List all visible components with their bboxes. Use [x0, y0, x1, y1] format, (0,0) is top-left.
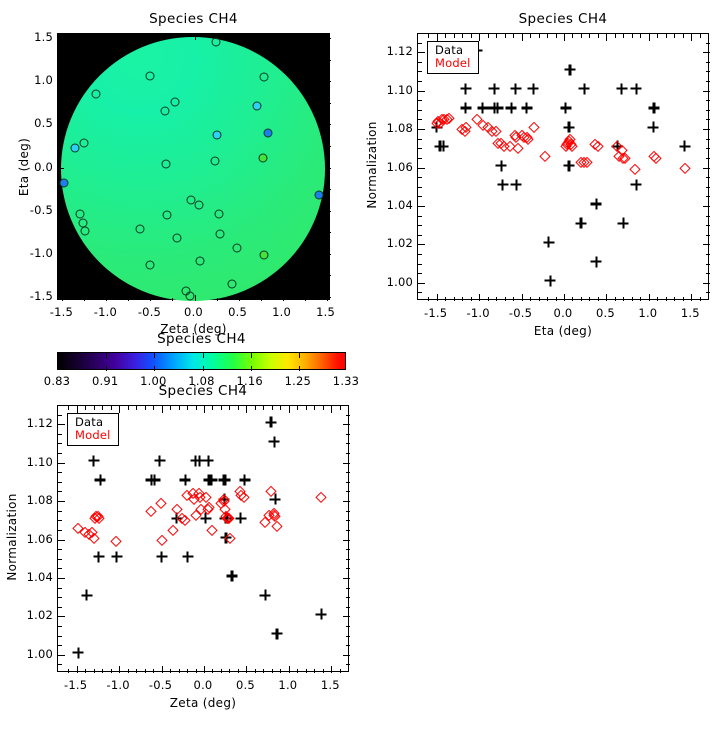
y-minor-tick — [706, 216, 710, 217]
y-tick — [418, 168, 425, 169]
model-point-marker — [155, 498, 166, 509]
x-minor-tick — [581, 34, 582, 38]
model-point-marker — [168, 525, 179, 536]
model-point-marker — [220, 503, 231, 514]
colorbar-ticklabel: 0.83 — [44, 374, 70, 388]
y-tick — [418, 283, 425, 284]
x-tick — [77, 666, 78, 673]
y-minor-tick — [706, 81, 710, 82]
model-point-marker — [650, 153, 661, 164]
eta_scatter-ylabel: Normalization — [365, 115, 379, 215]
y-minor-tick — [706, 158, 710, 159]
y-minor-tick — [418, 292, 422, 293]
eta_scatter-ytick: 1.12 — [379, 44, 413, 58]
model-point-marker — [195, 503, 206, 514]
x-tick — [119, 406, 120, 413]
data-point-marker — [511, 179, 522, 190]
data-point-marker — [497, 179, 508, 190]
y-tick — [343, 463, 350, 464]
x-minor-tick — [297, 669, 298, 673]
x-minor-tick — [68, 406, 69, 410]
model-point-marker — [439, 114, 450, 125]
x-minor-tick — [238, 669, 239, 673]
model-point-marker — [234, 486, 245, 497]
x-minor-tick — [598, 34, 599, 38]
model-point-marker — [270, 511, 281, 522]
colorbar-tick — [299, 353, 300, 358]
model-point-marker — [679, 162, 690, 173]
y-minor-tick — [418, 235, 422, 236]
model-point-marker — [487, 126, 498, 137]
model-point-marker — [194, 488, 205, 499]
y-minor-tick — [418, 273, 422, 274]
x-minor-tick — [85, 406, 86, 410]
y-tick — [703, 283, 710, 284]
x-minor-tick — [314, 669, 315, 673]
data-point-marker — [272, 628, 283, 639]
x-minor-tick — [102, 669, 103, 673]
model-point-marker — [260, 517, 271, 528]
x-minor-tick — [471, 34, 472, 38]
x-tick — [606, 294, 607, 301]
x-minor-tick — [221, 406, 222, 410]
eta_scatter-panel: Species CH4-1.5-1.0-0.50.00.51.01.51.001… — [360, 0, 720, 350]
x-minor-tick — [111, 669, 112, 673]
eta_scatter-ytick: 1.04 — [379, 198, 413, 212]
data-point-marker — [190, 455, 201, 466]
eta_scatter-ytick: 1.08 — [379, 121, 413, 135]
y-tick — [703, 206, 710, 207]
data-point-marker — [266, 417, 277, 428]
model-point-marker — [611, 141, 622, 152]
x-minor-tick — [674, 297, 675, 301]
x-tick — [289, 666, 290, 673]
x-tick — [522, 34, 523, 41]
zeta_scatter-xlabel: Zeta (deg) — [57, 696, 349, 710]
data-point-marker — [194, 455, 205, 466]
x-tick — [691, 294, 692, 301]
model-point-marker — [576, 156, 587, 167]
x-tick — [204, 406, 205, 413]
y-minor-tick — [58, 415, 62, 416]
data-point-marker — [564, 64, 575, 75]
model-point-marker — [83, 528, 94, 539]
data-point-marker — [489, 83, 500, 94]
model-point-marker — [263, 509, 274, 520]
figure-canvas: Species CH4-1.5-1.0-0.50.00.51.01.5-1.5-… — [0, 0, 720, 720]
x-minor-tick — [145, 406, 146, 410]
y-tick — [418, 206, 425, 207]
x-minor-tick — [539, 297, 540, 301]
x-minor-tick — [539, 34, 540, 38]
x-minor-tick — [683, 34, 684, 38]
y-minor-tick — [346, 645, 350, 646]
model-point-marker — [200, 492, 211, 503]
eta_scatter-ytick: 1.06 — [379, 160, 413, 174]
data-point-marker — [564, 160, 575, 171]
model-point-marker — [516, 130, 527, 141]
zeta_scatter-xtick: 1.0 — [278, 678, 297, 692]
zeta_scatter-legend: DataModel — [67, 413, 119, 446]
x-tick — [119, 666, 120, 673]
x-minor-tick — [598, 297, 599, 301]
x-minor-tick — [170, 669, 171, 673]
colorbar-tick — [203, 366, 204, 371]
eta_scatter-legend: DataModel — [427, 41, 479, 74]
data-point-marker — [612, 141, 623, 152]
model-point-marker — [618, 153, 629, 164]
y-minor-tick — [706, 292, 710, 293]
y-minor-tick — [418, 62, 422, 63]
y-minor-tick — [418, 110, 422, 111]
zeta_scatter-ytick: 1.04 — [19, 570, 53, 584]
y-minor-tick — [58, 607, 62, 608]
y-minor-tick — [58, 434, 62, 435]
data-point-marker — [435, 141, 446, 152]
y-minor-tick — [346, 559, 350, 560]
data-point-marker — [616, 83, 627, 94]
model-point-marker — [156, 534, 167, 545]
x-minor-tick — [314, 406, 315, 410]
data-point-marker — [111, 551, 122, 562]
y-minor-tick — [418, 119, 422, 120]
model-point-marker — [190, 509, 201, 520]
model-point-marker — [218, 494, 229, 505]
eta_scatter-xtick: -1.0 — [466, 306, 489, 320]
x-tick — [331, 406, 332, 413]
model-point-marker — [649, 151, 660, 162]
model-point-marker — [565, 139, 576, 150]
y-minor-tick — [706, 264, 710, 265]
x-minor-tick — [454, 34, 455, 38]
y-minor-tick — [706, 177, 710, 178]
y-minor-tick — [58, 530, 62, 531]
y-minor-tick — [346, 443, 350, 444]
colorbar-ticklabel: 1.33 — [333, 374, 359, 388]
x-minor-tick — [589, 297, 590, 301]
eta_scatter-ytick: 1.02 — [379, 236, 413, 250]
y-minor-tick — [346, 664, 350, 665]
x-minor-tick — [615, 297, 616, 301]
x-minor-tick — [666, 297, 667, 301]
data-point-marker — [95, 474, 106, 485]
data-point-marker — [218, 474, 229, 485]
x-minor-tick — [68, 669, 69, 673]
x-minor-tick — [196, 406, 197, 410]
x-minor-tick — [547, 34, 548, 38]
data-point-marker — [222, 513, 233, 524]
y-minor-tick — [346, 453, 350, 454]
y-minor-tick — [706, 71, 710, 72]
colorbar-tick — [251, 353, 252, 358]
x-minor-tick — [179, 406, 180, 410]
x-minor-tick — [272, 669, 273, 673]
x-minor-tick — [153, 669, 154, 673]
x-tick — [564, 34, 565, 41]
x-minor-tick — [666, 34, 667, 38]
model-point-marker — [189, 494, 200, 505]
x-minor-tick — [136, 669, 137, 673]
colorbar-tick — [299, 366, 300, 371]
data-point-marker — [460, 102, 471, 113]
x-minor-tick — [297, 406, 298, 410]
y-minor-tick — [418, 158, 422, 159]
x-minor-tick — [128, 669, 129, 673]
y-minor-tick — [58, 520, 62, 521]
model-point-marker — [436, 114, 447, 125]
colorbar-gradient — [57, 352, 346, 370]
y-tick — [343, 578, 350, 579]
model-point-marker — [188, 488, 199, 499]
data-point-marker — [431, 122, 442, 133]
x-tick — [649, 294, 650, 301]
x-tick — [162, 406, 163, 413]
x-minor-tick — [306, 669, 307, 673]
y-minor-tick — [58, 549, 62, 550]
y-minor-tick — [346, 491, 350, 492]
y-tick — [703, 52, 710, 53]
x-tick — [331, 666, 332, 673]
data-point-marker — [204, 474, 215, 485]
y-minor-tick — [706, 235, 710, 236]
model-point-marker — [435, 118, 446, 129]
y-tick — [343, 424, 350, 425]
data-point-marker — [679, 141, 690, 152]
zeta_scatter-ytick: 1.00 — [19, 647, 53, 661]
model-point-marker — [567, 141, 578, 152]
colorbar-ticklabel: 1.16 — [236, 374, 262, 388]
x-minor-tick — [212, 669, 213, 673]
y-tick — [58, 463, 65, 464]
colorbar-ticklabel: 0.91 — [92, 374, 118, 388]
x-minor-tick — [229, 669, 230, 673]
x-minor-tick — [471, 297, 472, 301]
y-minor-tick — [58, 472, 62, 473]
data-point-marker — [219, 494, 230, 505]
y-minor-tick — [58, 482, 62, 483]
zeta_scatter-xtick: -0.5 — [149, 678, 172, 692]
model-point-marker — [492, 137, 503, 148]
zeta_scatter-ytick: 1.08 — [19, 493, 53, 507]
x-minor-tick — [505, 297, 506, 301]
y-minor-tick — [706, 119, 710, 120]
model-point-marker — [560, 141, 571, 152]
data-point-marker — [235, 513, 246, 524]
x-tick — [246, 406, 247, 413]
y-tick — [343, 655, 350, 656]
data-point-marker — [180, 474, 191, 485]
x-minor-tick — [428, 34, 429, 38]
eta_scatter-ytick: 1.00 — [379, 275, 413, 289]
y-minor-tick — [58, 645, 62, 646]
legend-model-label: Model — [75, 429, 111, 442]
data-point-marker — [73, 647, 84, 658]
x-minor-tick — [513, 297, 514, 301]
zeta_scatter-xtick: 0.0 — [194, 678, 213, 692]
y-tick — [703, 91, 710, 92]
data-point-marker — [510, 83, 521, 94]
y-minor-tick — [58, 453, 62, 454]
data-point-marker — [579, 83, 590, 94]
data-point-marker — [460, 83, 471, 94]
data-point-marker — [206, 474, 217, 485]
y-minor-tick — [346, 597, 350, 598]
data-point-marker — [171, 513, 182, 524]
eta_scatter-xtick: 1.5 — [681, 306, 700, 320]
model-point-marker — [457, 124, 468, 135]
x-minor-tick — [179, 669, 180, 673]
model-point-marker — [266, 486, 277, 497]
model-point-marker — [87, 527, 98, 538]
model-point-marker — [562, 139, 573, 150]
model-point-marker — [146, 505, 157, 516]
x-minor-tick — [196, 669, 197, 673]
eta_scatter-xtick: 1.0 — [638, 306, 657, 320]
eta_scatter-title: Species CH4 — [417, 11, 709, 27]
zeta_scatter-ytick: 1.10 — [19, 455, 53, 469]
x-minor-tick — [145, 669, 146, 673]
x-minor-tick — [623, 34, 624, 38]
x-minor-tick — [556, 297, 557, 301]
data-point-marker — [496, 160, 507, 171]
y-minor-tick — [346, 568, 350, 569]
model-point-marker — [471, 114, 482, 125]
x-minor-tick — [530, 297, 531, 301]
model-point-marker — [564, 135, 575, 146]
x-minor-tick — [657, 297, 658, 301]
x-minor-tick — [272, 406, 273, 410]
data-point-marker — [489, 102, 500, 113]
model-point-marker — [204, 502, 215, 513]
x-minor-tick — [462, 34, 463, 38]
x-tick — [162, 666, 163, 673]
y-minor-tick — [418, 177, 422, 178]
x-minor-tick — [581, 297, 582, 301]
x-minor-tick — [445, 34, 446, 38]
y-minor-tick — [706, 100, 710, 101]
legend-data-label: Data — [435, 44, 471, 57]
y-minor-tick — [58, 443, 62, 444]
data-point-marker — [564, 122, 575, 133]
y-tick — [418, 91, 425, 92]
model-point-marker — [93, 513, 104, 524]
y-minor-tick — [346, 530, 350, 531]
eta_scatter-xlabel: Eta (deg) — [417, 324, 709, 338]
data-point-marker — [149, 474, 160, 485]
eta_scatter-xtick: 0.0 — [554, 306, 573, 320]
y-tick — [703, 244, 710, 245]
x-minor-tick — [102, 406, 103, 410]
model-point-marker — [222, 513, 233, 524]
model-point-marker — [504, 141, 515, 152]
x-minor-tick — [632, 34, 633, 38]
x-minor-tick — [572, 34, 573, 38]
colorbar-ticklabel: 1.08 — [188, 374, 214, 388]
x-tick — [246, 666, 247, 673]
y-minor-tick — [418, 43, 422, 44]
x-minor-tick — [700, 297, 701, 301]
x-minor-tick — [556, 34, 557, 38]
x-minor-tick — [572, 297, 573, 301]
y-minor-tick — [706, 139, 710, 140]
model-point-marker — [223, 513, 234, 524]
model-point-marker — [477, 120, 488, 131]
x-minor-tick — [136, 406, 137, 410]
colorbar-tick — [203, 353, 204, 358]
zeta_scatter-panel: Species CH4-1.5-1.0-0.50.00.51.01.51.001… — [0, 380, 360, 730]
model-point-marker — [236, 490, 247, 501]
x-minor-tick — [700, 34, 701, 38]
legend-data-label: Data — [75, 416, 111, 429]
data-point-marker — [227, 570, 238, 581]
y-minor-tick — [706, 187, 710, 188]
colorbar-tick — [154, 353, 155, 358]
zeta_scatter-ytick: 1.12 — [19, 416, 53, 430]
x-minor-tick — [187, 669, 188, 673]
x-minor-tick — [306, 406, 307, 410]
eta_scatter-xtick: -0.5 — [509, 306, 532, 320]
data-point-marker — [156, 551, 167, 562]
y-minor-tick — [706, 110, 710, 111]
y-tick — [703, 168, 710, 169]
data-point-marker — [269, 436, 280, 447]
y-minor-tick — [418, 187, 422, 188]
y-minor-tick — [346, 434, 350, 435]
data-point-marker — [648, 122, 659, 133]
model-point-marker — [207, 525, 218, 536]
model-point-marker — [177, 513, 188, 524]
data-point-marker — [154, 455, 165, 466]
x-minor-tick — [488, 34, 489, 38]
model-point-marker — [614, 151, 625, 162]
colorbar-tick — [106, 366, 107, 371]
data-point-marker — [182, 551, 193, 562]
x-minor-tick — [547, 297, 548, 301]
model-point-marker — [582, 156, 593, 167]
model-point-marker — [221, 511, 232, 522]
zeta_scatter-xtick: -1.0 — [106, 678, 129, 692]
x-minor-tick — [589, 34, 590, 38]
data-point-marker — [591, 198, 602, 209]
model-point-marker — [433, 116, 444, 127]
model-point-marker — [513, 143, 524, 154]
y-minor-tick — [418, 216, 422, 217]
y-minor-tick — [706, 148, 710, 149]
x-minor-tick — [323, 406, 324, 410]
y-minor-tick — [706, 273, 710, 274]
x-tick — [691, 34, 692, 41]
y-tick — [58, 578, 65, 579]
colorbar-panel: Species CH40.830.911.001.081.161.251.33 — [0, 0, 360, 380]
model-point-marker — [498, 141, 509, 152]
y-minor-tick — [346, 415, 350, 416]
x-minor-tick — [170, 406, 171, 410]
y-minor-tick — [58, 491, 62, 492]
x-minor-tick — [674, 34, 675, 38]
x-tick — [437, 294, 438, 301]
x-minor-tick — [505, 34, 506, 38]
x-minor-tick — [323, 669, 324, 673]
model-point-marker — [182, 490, 193, 501]
y-tick — [58, 424, 65, 425]
model-point-marker — [579, 156, 590, 167]
model-point-marker — [73, 523, 84, 534]
x-minor-tick — [263, 406, 264, 410]
data-point-marker — [477, 102, 488, 113]
x-minor-tick — [657, 34, 658, 38]
model-point-marker — [491, 126, 502, 137]
model-point-marker — [316, 492, 327, 503]
